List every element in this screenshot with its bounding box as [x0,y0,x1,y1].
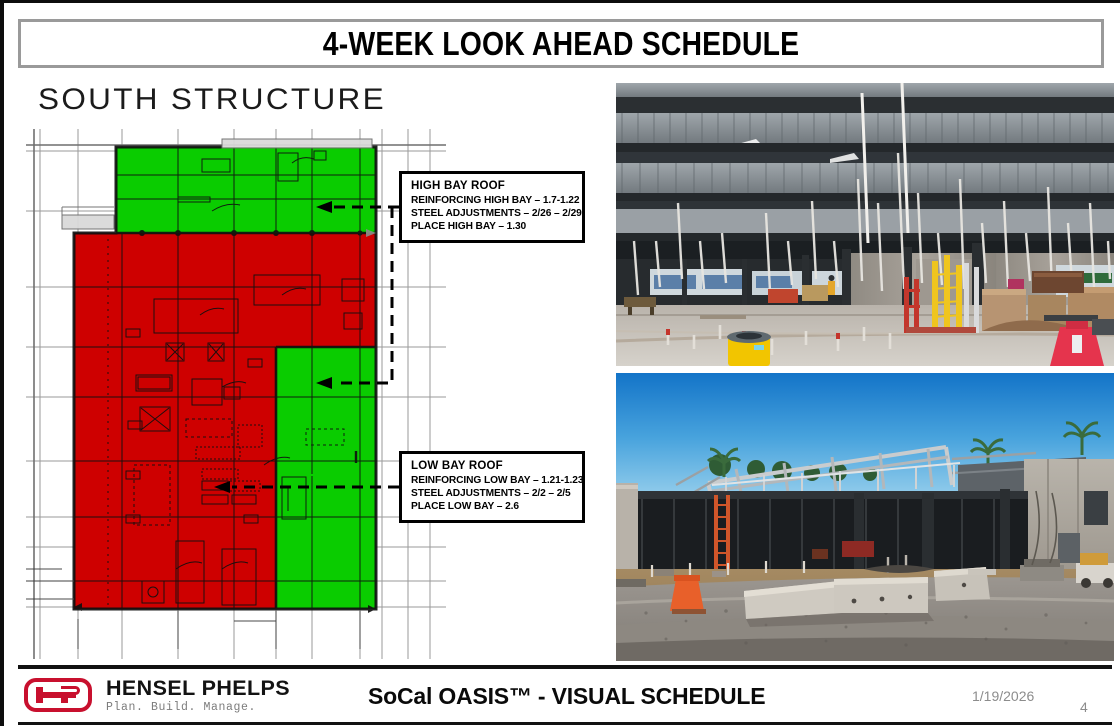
callout-high-bay-title: HIGH BAY ROOF [411,179,574,193]
callout-low-bay-line-2: STEEL ADJUSTMENTS – 2/2 – 2/5 [411,487,574,500]
floor-plan-drawing [26,129,446,659]
slide-canvas: 4-WEEK LOOK AHEAD SCHEDULE SOUTH STRUCTU… [0,0,1120,726]
photo-obj-building-interior [616,491,1028,579]
photo-obj-bucket [727,331,771,366]
company-name: HENSEL PHELPS [106,677,290,700]
plan-region-high-bay-southeast [276,347,376,609]
slide-date: 1/19/2026 [972,688,1034,704]
callout-high-bay-line-2: STEEL ADJUSTMENTS – 2/26 – 2/29 [411,207,574,220]
footer-bar: HENSEL PHELPS Plan. Build. Manage. SoCal… [18,669,1112,725]
callout-low-bay-line-3: PLACE LOW BAY – 2.6 [411,500,574,513]
callout-low-bay-line-1: REINFORCING LOW BAY – 1.21-1.23 [411,474,574,487]
callout-low-bay-title: LOW BAY ROOF [411,459,574,473]
hensel-phelps-logo-icon [24,678,92,712]
photo-exterior-tilt-up [616,373,1114,661]
page-number: 4 [1080,699,1088,715]
callout-high-bay-roof: HIGH BAY ROOF REINFORCING HIGH BAY – 1.7… [399,171,585,243]
photo-interior-steel-deck [616,83,1114,366]
brand-lockup: HENSEL PHELPS Plan. Build. Manage. [106,677,290,715]
page-title: 4-WEEK LOOK AHEAD SCHEDULE [323,25,799,63]
project-title: SoCal OASIS™ - VISUAL SCHEDULE [368,683,765,710]
callout-high-bay-line-3: PLACE HIGH BAY – 1.30 [411,220,574,233]
company-tagline: Plan. Build. Manage. [106,700,290,715]
callout-high-bay-line-1: REINFORCING HIGH BAY – 1.7-1.22 [411,194,574,207]
slide-title-box: 4-WEEK LOOK AHEAD SCHEDULE [18,19,1104,68]
callout-low-bay-roof: LOW BAY ROOF REINFORCING LOW BAY – 1.21-… [399,451,585,523]
section-label: SOUTH STRUCTURE [38,83,386,117]
floor-plan-svg [26,129,446,659]
